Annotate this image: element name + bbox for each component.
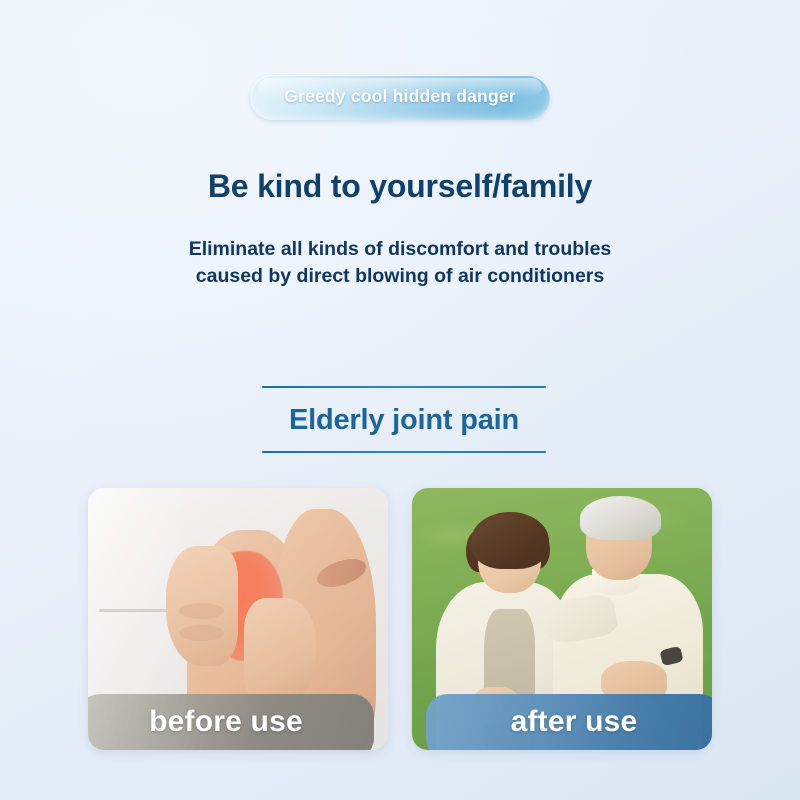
subtitle-line-1: Eliminate all kinds of discomfort and tr…	[0, 236, 800, 263]
man-hair-shape	[580, 496, 661, 541]
divider-bottom	[262, 451, 546, 453]
label-before-use: before use	[88, 694, 374, 750]
second-hand-shape	[244, 598, 316, 703]
woman-hair-shape	[471, 512, 549, 570]
card-after-use: after use	[412, 488, 712, 750]
card-before-use: before use	[88, 488, 388, 750]
subtitle-line-2: caused by direct blowing of air conditio…	[0, 263, 800, 290]
page-subtitle: Eliminate all kinds of discomfort and tr…	[0, 236, 800, 290]
promo-page: Greedy cool hidden danger Be kind to you…	[0, 0, 800, 800]
badge-greedy-cool-hidden-danger: Greedy cool hidden danger	[250, 75, 550, 120]
label-after-use: after use	[426, 694, 712, 750]
hand-shape	[166, 546, 238, 667]
section-elderly-joint-pain: Elderly joint pain	[262, 386, 546, 453]
badge-container: Greedy cool hidden danger	[0, 75, 800, 120]
page-title: Be kind to yourself/family	[0, 168, 800, 205]
section-title: Elderly joint pain	[262, 388, 546, 451]
comparison-cards: before use after use	[88, 488, 712, 750]
